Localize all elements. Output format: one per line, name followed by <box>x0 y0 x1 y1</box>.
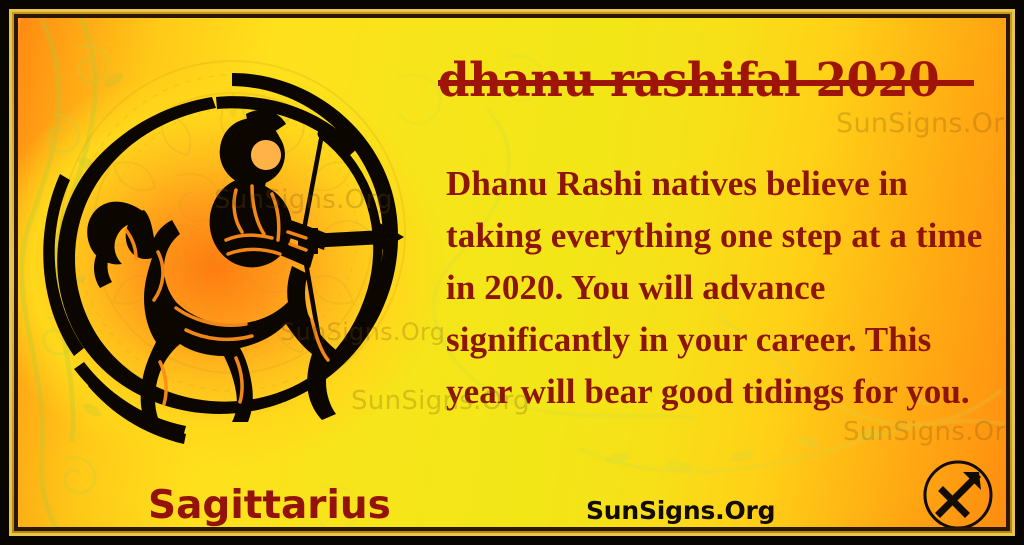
site-branding: SunSigns.Org <box>586 496 775 526</box>
page-title: dhanu rashifal 2020 <box>420 48 980 120</box>
poster-canvas: dhanu rashifal 2020 Dhanu Rashi natives … <box>18 18 1006 527</box>
sagittarius-symbol-icon <box>921 458 995 527</box>
title-text: dhanu rashifal 2020 <box>438 48 939 114</box>
zodiac-poster: dhanu rashifal 2020 Dhanu Rashi natives … <box>0 0 1024 545</box>
watermark: SunSigns.Org <box>843 417 1006 447</box>
zodiac-sign-name: Sagittarius <box>148 484 391 527</box>
sagittarius-illustration <box>40 62 420 462</box>
horoscope-body-text: Dhanu Rashi natives believe in taking ev… <box>446 158 998 418</box>
